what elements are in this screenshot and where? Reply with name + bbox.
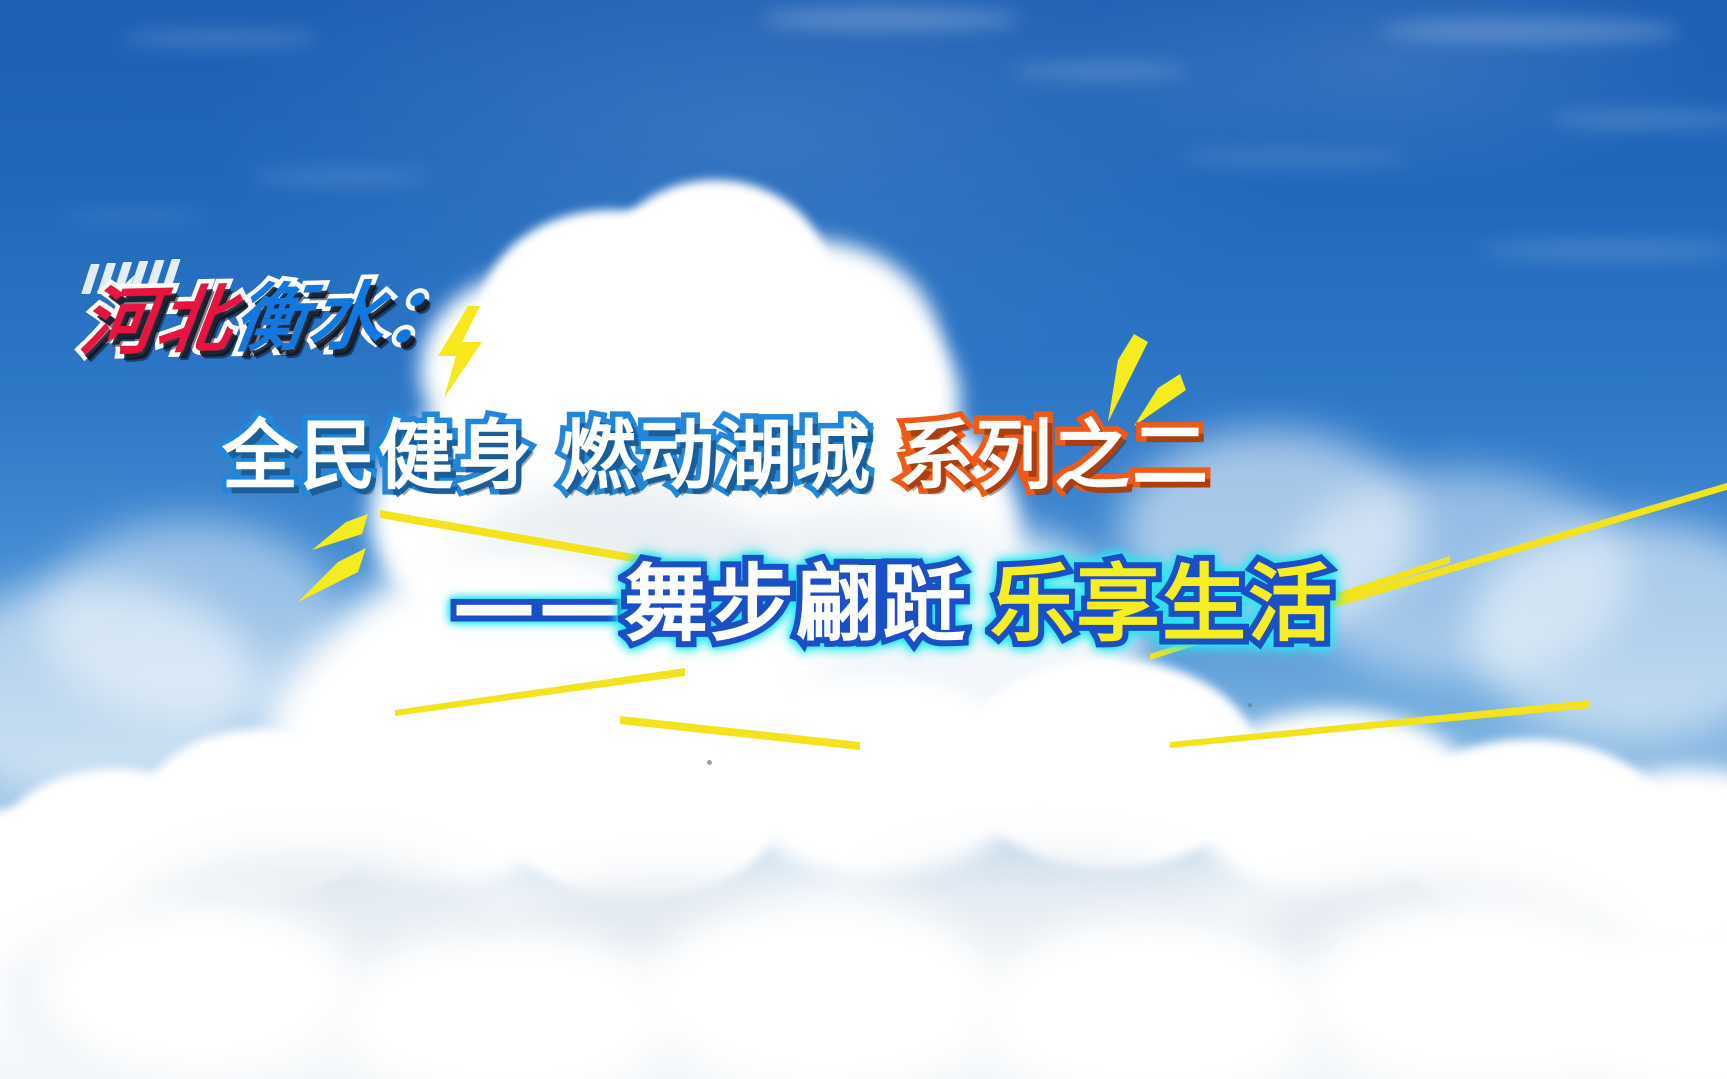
title-line-3: ——舞步翩跹乐享生活 [452, 562, 1334, 646]
speed-streak [1170, 700, 1590, 750]
speed-streak [620, 716, 860, 750]
campaign-part2: 燃动湖城 [560, 418, 872, 494]
campaign-part1: 全民健身 [222, 418, 534, 494]
speck [707, 760, 712, 765]
series-number: 系列之二 [898, 418, 1210, 494]
em-dash: —— [452, 562, 624, 646]
speed-streak [395, 666, 685, 716]
subtitle-part1: 舞步翩跹 [624, 562, 968, 646]
province-name: 河北 [76, 283, 239, 360]
title-card-scene: 河北衡水： 全民健身燃动湖城系列之二 ——舞步翩跹乐享生活 [0, 0, 1727, 1079]
city-name: 衡水： [229, 278, 468, 357]
title-line-1: 河北衡水： [76, 278, 467, 360]
title-line-2: 全民健身燃动湖城系列之二 [222, 418, 1210, 494]
subtitle-part2: 乐享生活 [990, 562, 1334, 646]
